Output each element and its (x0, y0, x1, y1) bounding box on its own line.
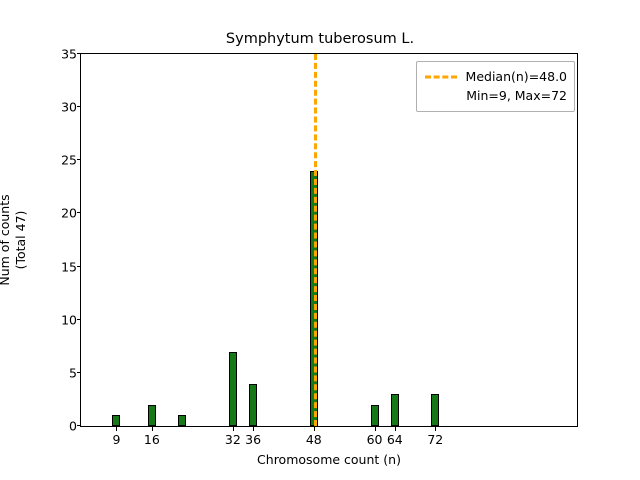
legend-label-median: Median(n)=48.0 (466, 69, 567, 84)
y-tick-label-30: 30 (61, 101, 77, 114)
y-axis-label-line2: (Total 47) (13, 211, 28, 270)
chart-figure: Symphytum tuberosum L. Num of counts (To… (0, 0, 640, 480)
bar (229, 352, 237, 426)
x-tick-label-64: 64 (387, 433, 403, 447)
bar (391, 394, 399, 426)
bar (249, 384, 257, 427)
x-tick-mark-32 (233, 426, 234, 431)
bar (148, 405, 156, 426)
bar (112, 415, 120, 426)
x-tick-label-9: 9 (112, 433, 120, 447)
legend-blank-swatch (424, 86, 458, 105)
x-tick-mark-60 (375, 426, 376, 431)
dashed-line-icon (424, 67, 458, 86)
legend-entry-median: Median(n)=48.0 (424, 67, 567, 86)
bar (371, 405, 379, 426)
chart-legend: Median(n)=48.0 Min=9, Max=72 (416, 61, 575, 112)
x-tick-mark-72 (435, 426, 436, 431)
y-tick-label-10: 10 (61, 313, 77, 326)
x-tick-label-36: 36 (245, 433, 261, 447)
x-tick-label-72: 72 (427, 433, 443, 447)
x-tick-mark-16 (152, 426, 153, 431)
x-tick-mark-36 (253, 426, 254, 431)
y-tick-label-5: 5 (69, 366, 77, 379)
x-axis-label: Chromosome count (n) (81, 452, 577, 468)
y-tick-label-20: 20 (61, 207, 77, 220)
y-axis-label: Num of counts (Total 47) (0, 194, 29, 285)
plot-area: Num of counts (Total 47) 0 5 10 15 20 25… (80, 53, 578, 427)
legend-label-minmax: Min=9, Max=72 (466, 88, 567, 103)
y-tick-label-0: 0 (69, 420, 77, 433)
x-tick-label-32: 32 (225, 433, 241, 447)
bar (178, 415, 186, 426)
bar (431, 394, 439, 426)
median-line (314, 54, 317, 426)
x-tick-label-60: 60 (367, 433, 383, 447)
y-tick-label-15: 15 (61, 260, 77, 273)
legend-entry-minmax: Min=9, Max=72 (424, 86, 567, 105)
x-tick-label-16: 16 (144, 433, 160, 447)
y-tick-label-25: 25 (61, 154, 77, 167)
x-tick-mark-48 (314, 426, 315, 431)
x-tick-mark-9 (116, 426, 117, 431)
y-axis-label-line1: Num of counts (0, 194, 12, 285)
x-tick-mark-64 (395, 426, 396, 431)
chart-title: Symphytum tuberosum L. (0, 30, 640, 48)
y-tick-label-35: 35 (61, 48, 77, 61)
x-tick-label-48: 48 (306, 433, 322, 447)
